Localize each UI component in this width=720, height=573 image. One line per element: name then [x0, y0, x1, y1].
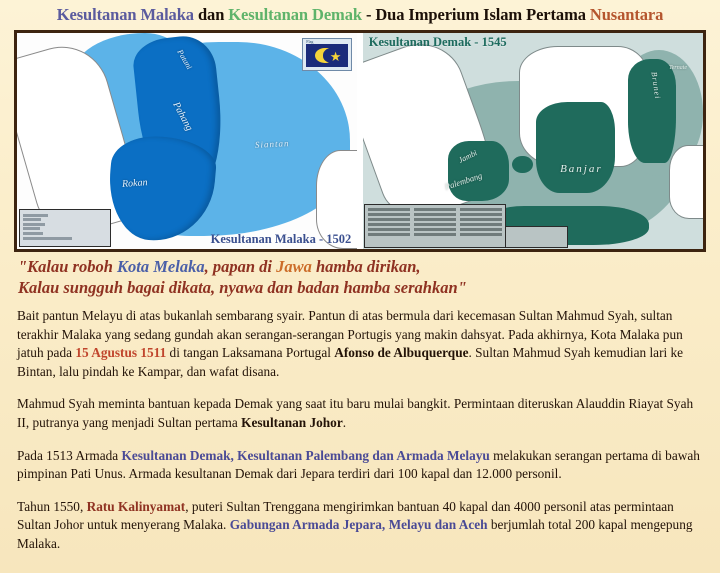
quote-line1-part-c: , papan di	[205, 257, 277, 276]
quote-line1-part-a: "Kalau roboh	[18, 257, 117, 276]
title-part-nusantara: Nusantara	[590, 5, 663, 24]
quote-line2: Kalau sungguh bagai dikata, nyawa dan ba…	[18, 278, 467, 297]
map-demak: Jambi Palembang Banjar Brunei Ternate Ke…	[363, 33, 703, 249]
p1-date-highlight: 15 Agustus 1511	[75, 345, 166, 360]
title-part-conjunction: dan	[194, 5, 228, 24]
p3-armada-highlight: Kesultanan Demak, Kesultanan Palembang d…	[122, 448, 490, 463]
map-demak-legend	[364, 204, 506, 248]
map-demak-papua-outline	[669, 145, 703, 218]
map-demak-territory-palembang	[448, 141, 509, 201]
p3-text-a: Pada 1513 Armada	[17, 448, 122, 463]
map-demak-legend-extension	[506, 226, 568, 248]
page-title: Kesultanan Malaka dan Kesultanan Demak -…	[0, 0, 720, 29]
p1-text-c: di tangan Laksamana Portugal	[166, 345, 334, 360]
p4-ratu-highlight: Ratu Kalinyamat	[87, 499, 186, 514]
p2-text-a: Mahmud Syah meminta bantuan kepada Demak…	[17, 396, 693, 430]
quote-highlight-kota-melaka: Kota Melaka	[117, 257, 205, 276]
map-demak-caption: Kesultanan Demak - 1545	[369, 35, 507, 50]
p2-text-c: .	[343, 415, 346, 430]
star-icon: ★	[330, 50, 342, 63]
p1-name-highlight: Afonso de Albuquerque	[334, 345, 468, 360]
pantun-quote: "Kalau roboh Kota Melaka, papan di Jawa …	[18, 256, 702, 298]
p4-text-a: Tahun 1550,	[17, 499, 87, 514]
article-body: Bait pantun Melayu di atas bukanlah semb…	[17, 307, 707, 568]
map-malaka-caption: Kesultanan Malaka - 1502	[211, 232, 352, 247]
infographic-page: Kesultanan Malaka dan Kesultanan Demak -…	[0, 0, 720, 573]
p4-gabungan-highlight: Gabungan Armada Jepara, Melayu dan Aceh	[230, 517, 488, 532]
map-panel: Patani Pahang Rokan Siantan Flag ★ Kesul…	[14, 30, 706, 252]
paragraph-3: Pada 1513 Armada Kesultanan Demak, Kesul…	[17, 447, 707, 484]
flag-inset-box: Flag ★	[302, 38, 352, 71]
paragraph-4: Tahun 1550, Ratu Kalinyamat, puteri Sult…	[17, 498, 707, 554]
malaka-flag-icon: ★	[306, 44, 348, 67]
map-demak-territory-central	[536, 102, 614, 193]
title-part-malaka: Kesultanan Malaka	[57, 5, 194, 24]
map-malaka-legend	[19, 209, 111, 247]
paragraph-1: Bait pantun Melayu di atas bukanlah semb…	[17, 307, 707, 381]
paragraph-2: Mahmud Syah meminta bantuan kepada Demak…	[17, 395, 707, 432]
quote-highlight-jawa: Jawa	[276, 257, 312, 276]
quote-line1-part-e: hamba dirikan,	[312, 257, 421, 276]
map-malaka: Patani Pahang Rokan Siantan Flag ★ Kesul…	[17, 33, 357, 249]
p2-johor-highlight: Kesultanan Johor	[241, 415, 343, 430]
title-part-demak: Kesultanan Demak	[228, 5, 362, 24]
title-part-subtitle: - Dua Imperium Islam Pertama	[362, 5, 590, 24]
map-demak-territory-brunei	[628, 59, 676, 163]
